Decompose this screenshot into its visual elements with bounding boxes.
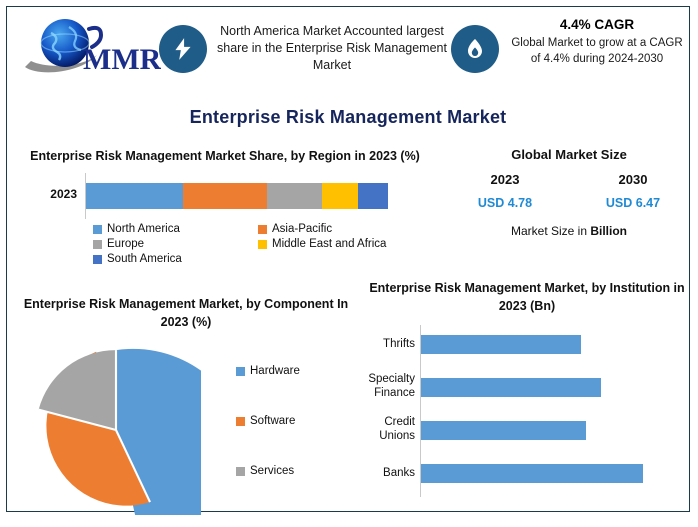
institution-chart-title: Enterprise Risk Management Market, by In… xyxy=(355,279,698,315)
institution-chart: Enterprise Risk Management Market, by In… xyxy=(355,279,698,505)
region-legend: North America Asia-Pacific Europe Middle… xyxy=(93,223,423,268)
region-category-label: 2023 xyxy=(27,187,77,201)
header-cagr-block: 4.4% CAGR Global Market to grow at a CAG… xyxy=(507,13,687,67)
institution-label-specialty-finance: Specialty Finance xyxy=(355,372,415,400)
header-highlight-text: North America Market Accounted largest s… xyxy=(215,13,449,74)
region-segment-north-america xyxy=(86,183,183,209)
region-segment-middle-east-africa xyxy=(322,183,358,209)
legend-label-north-america: North America xyxy=(107,223,180,235)
global-market-size-panel: Global Market Size 2023 2030 USD 4.78 US… xyxy=(441,147,697,238)
legend-label-hardware: Hardware xyxy=(250,365,300,377)
mmr-logo: MMR xyxy=(21,15,161,85)
cagr-headline: 4.4% CAGR xyxy=(507,17,687,33)
infographic-frame: MMR North America Market Accounted large… xyxy=(6,6,690,512)
legend-label-south-america: South America xyxy=(107,253,182,265)
brand-name: MMR xyxy=(83,43,161,76)
legend-swatch-services xyxy=(236,467,245,476)
legend-label-middle-east-africa: Middle East and Africa xyxy=(272,238,386,250)
institution-label-thrifts: Thrifts xyxy=(355,337,415,351)
institution-row-thrifts: Thrifts xyxy=(355,325,698,368)
legend-swatch-hardware xyxy=(236,367,245,376)
region-stacked-bar xyxy=(86,183,388,209)
legend-item-software: Software xyxy=(236,415,300,427)
legend-label-software: Software xyxy=(250,415,295,427)
legend-item-europe: Europe xyxy=(93,238,258,250)
market-size-unit-note: Market Size in Billion xyxy=(441,224,697,238)
component-pie xyxy=(31,345,201,515)
component-share-chart: Enterprise Risk Management Market, by Co… xyxy=(21,295,351,527)
legend-item-north-america: North America xyxy=(93,223,258,235)
market-size-unit-prefix: Market Size in xyxy=(511,224,590,238)
legend-swatch-south-america xyxy=(93,255,102,264)
page-title: Enterprise Risk Management Market xyxy=(7,107,689,128)
region-segment-asia-pacific xyxy=(183,183,268,209)
region-chart-title: Enterprise Risk Management Market Share,… xyxy=(15,147,435,165)
region-segment-south-america xyxy=(358,183,388,209)
legend-item-south-america: South America xyxy=(93,253,258,265)
legend-label-europe: Europe xyxy=(107,238,144,250)
region-segment-europe xyxy=(267,183,321,209)
institution-row-credit-unions: Credit Unions xyxy=(355,411,698,454)
legend-item-services: Services xyxy=(236,465,300,477)
component-chart-title: Enterprise Risk Management Market, by Co… xyxy=(21,295,351,331)
institution-bar-credit-unions xyxy=(421,421,586,440)
market-size-year-start: 2023 xyxy=(441,172,569,187)
legend-item-hardware: Hardware xyxy=(236,365,300,377)
market-size-value-end: USD 6.47 xyxy=(569,196,697,210)
region-chart-plot: 2023 xyxy=(15,173,435,219)
institution-chart-plot: Thrifts Specialty Finance Credit Unions … xyxy=(355,325,698,505)
market-size-years: 2023 2030 xyxy=(441,172,697,187)
global-market-size-title: Global Market Size xyxy=(441,147,697,162)
legend-swatch-middle-east-africa xyxy=(258,240,267,249)
lightning-bolt-icon xyxy=(159,25,207,73)
institution-label-banks: Banks xyxy=(355,466,415,480)
institution-bar-banks xyxy=(421,464,643,483)
legend-swatch-software xyxy=(236,417,245,426)
market-size-unit-value: Billion xyxy=(590,224,627,238)
legend-swatch-europe xyxy=(93,240,102,249)
region-share-chart: Enterprise Risk Management Market Share,… xyxy=(15,147,435,268)
legend-item-asia-pacific: Asia-Pacific xyxy=(258,223,423,235)
header-highlight-north-america: North America Market Accounted largest s… xyxy=(159,13,449,74)
component-chart-plot: Hardware Software Services xyxy=(21,337,351,527)
header-highlight-cagr: 4.4% CAGR Global Market to grow at a CAG… xyxy=(451,13,687,67)
header: MMR North America Market Accounted large… xyxy=(7,7,689,91)
market-size-values: USD 4.78 USD 6.47 xyxy=(441,196,697,210)
cagr-description: Global Market to grow at a CAGR of 4.4% … xyxy=(511,37,682,65)
component-legend: Hardware Software Services xyxy=(236,365,300,515)
legend-label-asia-pacific: Asia-Pacific xyxy=(272,223,332,235)
legend-swatch-north-america xyxy=(93,225,102,234)
market-size-year-end: 2030 xyxy=(569,172,697,187)
flame-icon xyxy=(451,25,499,73)
legend-swatch-asia-pacific xyxy=(258,225,267,234)
institution-row-banks: Banks xyxy=(355,454,698,497)
legend-item-middle-east-africa: Middle East and Africa xyxy=(258,238,423,250)
globe-swoosh-logo: MMR xyxy=(21,15,161,85)
institution-row-specialty-finance: Specialty Finance xyxy=(355,368,698,411)
institution-bar-specialty-finance xyxy=(421,378,601,397)
institution-bar-thrifts xyxy=(421,335,581,354)
market-size-value-start: USD 4.78 xyxy=(441,196,569,210)
legend-label-services: Services xyxy=(250,465,294,477)
institution-label-credit-unions: Credit Unions xyxy=(355,415,415,443)
